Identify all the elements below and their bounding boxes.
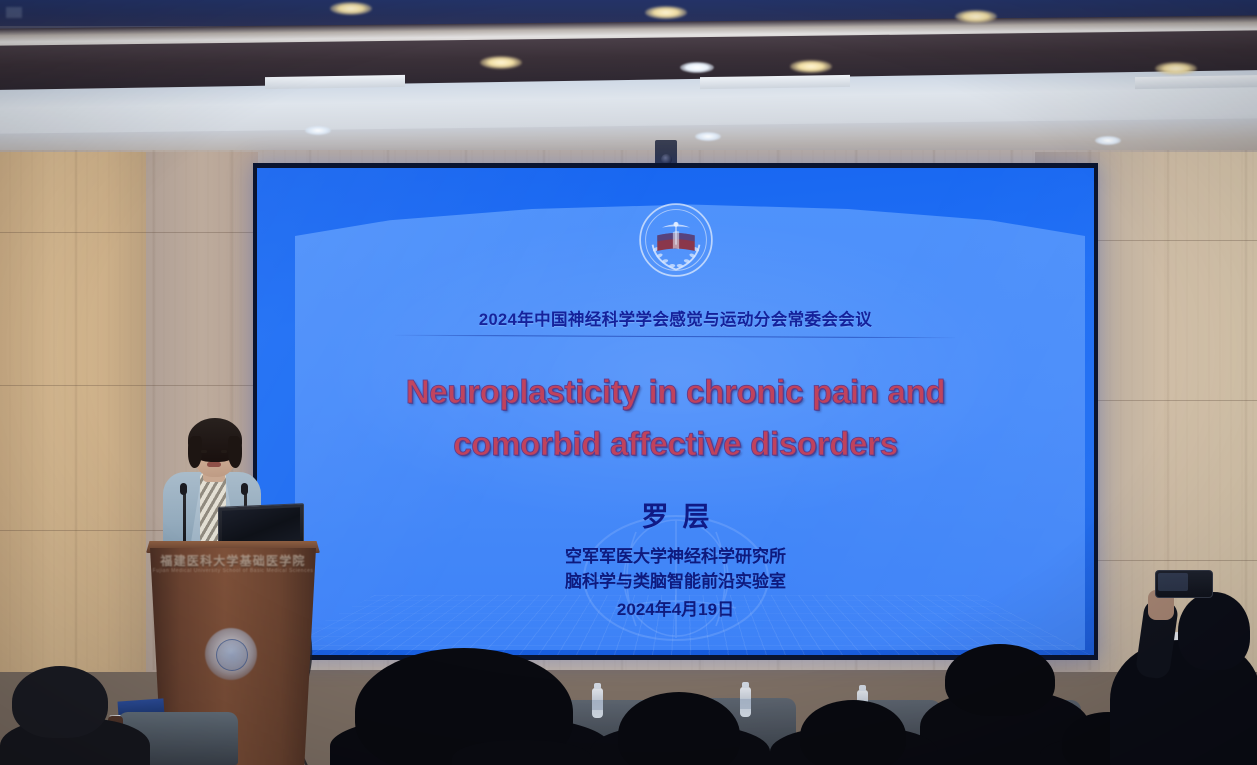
microphone-head-icon <box>241 483 248 495</box>
ceiling-notch <box>700 75 850 89</box>
ceiling-downlight-warm-icon <box>330 2 372 15</box>
presenter-hair-right <box>228 436 242 468</box>
left-wood-panel <box>0 152 150 672</box>
slide-main-title: Neuroplasticity in chronic pain and como… <box>257 366 1094 470</box>
presenter-mouth <box>207 462 221 467</box>
audience-member-head <box>12 666 108 738</box>
slide-main-title-line1: Neuroplasticity in chronic pain and <box>257 366 1094 418</box>
presenter-eye-right <box>221 450 227 453</box>
wall-seam <box>0 232 258 233</box>
presenter-eye-left <box>201 450 207 453</box>
ceiling-downlight-warm-icon <box>1155 62 1197 75</box>
bottle-label <box>740 699 751 709</box>
bottle-cap <box>859 685 866 691</box>
ceiling-notch <box>1135 75 1257 89</box>
ceiling-downlight-cool-icon <box>1095 136 1121 145</box>
bottle-cap <box>742 682 749 688</box>
audience-member-head <box>800 700 906 765</box>
bottle-label <box>592 700 603 710</box>
microphone-head-icon <box>180 483 187 495</box>
slide-conference-title: 2024年中国神经科学学会感觉与运动分会常委会会议 <box>257 306 1094 330</box>
laptop-screen <box>222 507 300 542</box>
podium-microphone <box>183 492 186 548</box>
conference-hall-photo: 2024年中国神经科学学会感觉与运动分会常委会会议 Neuroplasticit… <box>0 0 1257 765</box>
bottle-cap <box>594 683 601 689</box>
laptop-screen-glint <box>6 7 22 18</box>
audience-member-head <box>945 644 1055 716</box>
ceiling-downlight-warm-icon <box>645 6 687 19</box>
podium-emblem-ring <box>216 639 248 671</box>
slide-speaker-name: 罗层 <box>257 495 1094 534</box>
photographer-head <box>1178 592 1250 670</box>
presenter-hair-left <box>188 436 202 468</box>
ceiling-downlight-warm-icon <box>955 10 997 23</box>
podium-plaque-subtext: Fujian Medical University School of Basi… <box>150 568 316 574</box>
ceiling-downlight-cool-icon <box>695 132 721 141</box>
ceiling-downlight-warm-icon <box>480 56 522 69</box>
wall-seam <box>0 385 258 386</box>
podium-plaque-text: 福建医科大学基础医学院 <box>150 552 316 569</box>
ceiling-downlight-warm-icon <box>790 60 832 73</box>
university-emblem-icon <box>637 201 715 279</box>
ceiling-notch <box>265 75 405 89</box>
slide-main-title-line2: comorbid affective disorders <box>257 418 1094 470</box>
ceiling-downlight-cool-icon <box>680 62 714 73</box>
ceiling-downlight-cool-icon <box>305 126 331 135</box>
smartphone-screen <box>1158 573 1188 591</box>
